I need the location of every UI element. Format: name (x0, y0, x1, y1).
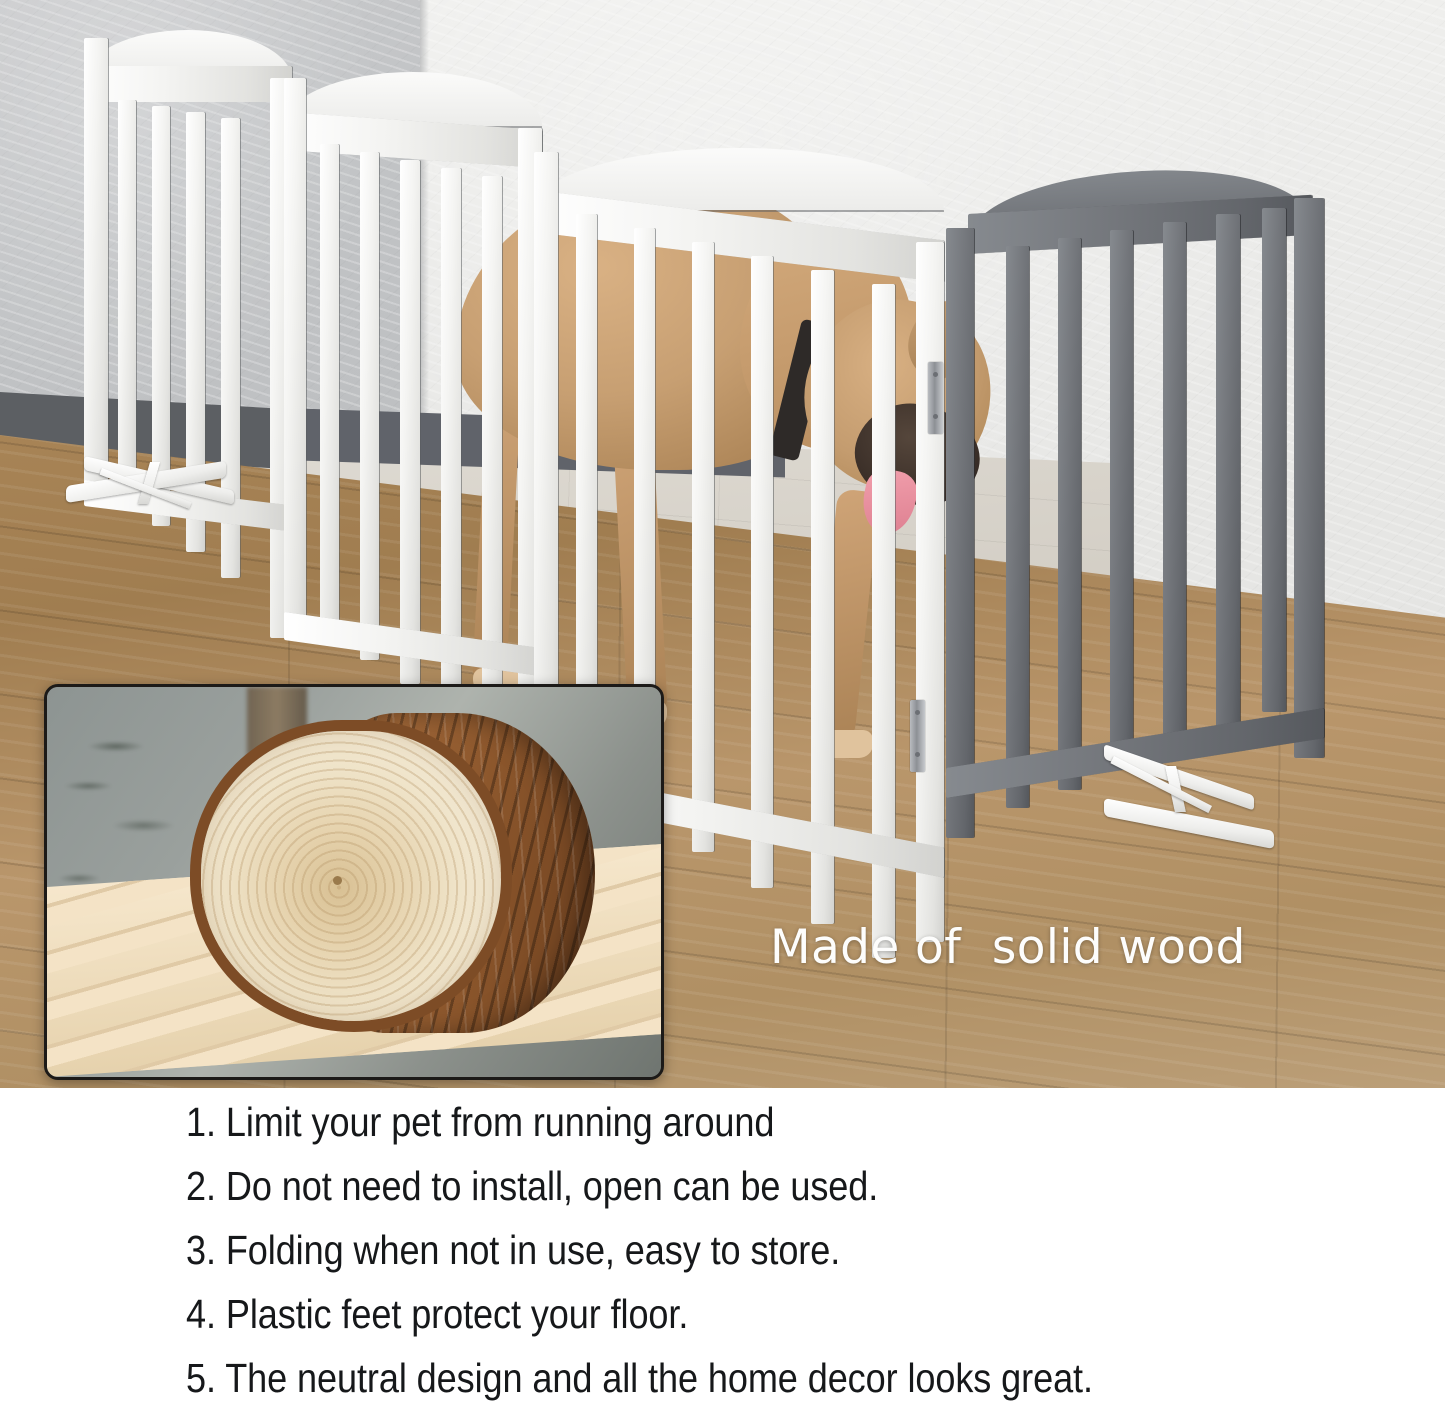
panel-4-slat (1163, 222, 1186, 750)
gate-panel-4[interactable] (946, 180, 1328, 840)
hinge-pin (933, 372, 938, 377)
feature-item-2: 2. Do not need to install, open can be u… (186, 1166, 1294, 1207)
panel-2-slat (441, 168, 461, 708)
panel-4-slat (1058, 238, 1081, 790)
gate-hinge-lower (910, 700, 925, 772)
gate-hinge-upper (928, 362, 943, 434)
panel-2-stile-left (284, 78, 306, 638)
panel-4-slat (1006, 246, 1029, 808)
panel-4-slat (1216, 214, 1240, 730)
feature-item-1: 1. Limit your pet from running around (186, 1102, 1294, 1143)
log-pith-center (333, 876, 342, 885)
hinge-pin (915, 710, 920, 715)
panel-1-stile-left (84, 38, 108, 488)
hinge-pin (915, 752, 920, 757)
panel-2-slat (320, 144, 339, 636)
panel-1-top-rail (84, 66, 292, 102)
panel-3-slat (751, 256, 773, 888)
inset-photo-solid-wood (44, 684, 664, 1080)
feature-list: 1. Limit your pet from running around 2.… (0, 1088, 1445, 1424)
panel-3-slat (692, 242, 714, 852)
log-cross-section (165, 709, 595, 1045)
panel-2-slat (400, 160, 420, 684)
panel-4-stile-right (1294, 198, 1324, 758)
panel-2-slat (360, 152, 379, 660)
feature-item-3: 3. Folding when not in use, easy to stor… (186, 1230, 1294, 1271)
overlay-caption-made-of-solid-wood: Made of solid wood (770, 920, 1246, 975)
log-cut-face (201, 731, 501, 1021)
gate-foot-right (1104, 742, 1289, 834)
product-image: Made of solid wood 1. Limit your pet fro… (0, 0, 1445, 1424)
gate-panel-2[interactable] (284, 72, 542, 662)
panel-3-stile-right (916, 242, 944, 942)
panel-4-stile-left (946, 228, 974, 838)
product-photo: Made of solid wood (0, 0, 1445, 1088)
panel-1-slat (118, 100, 136, 504)
feature-item-5: 5. The neutral design and all the home d… (186, 1358, 1294, 1399)
feature-item-4: 4. Plastic feet protect your floor. (186, 1294, 1294, 1335)
panel-4-slat (1262, 208, 1286, 712)
hinge-pin (933, 414, 938, 419)
panel-4-slat (1110, 230, 1133, 770)
gate-foot-left (66, 452, 236, 522)
